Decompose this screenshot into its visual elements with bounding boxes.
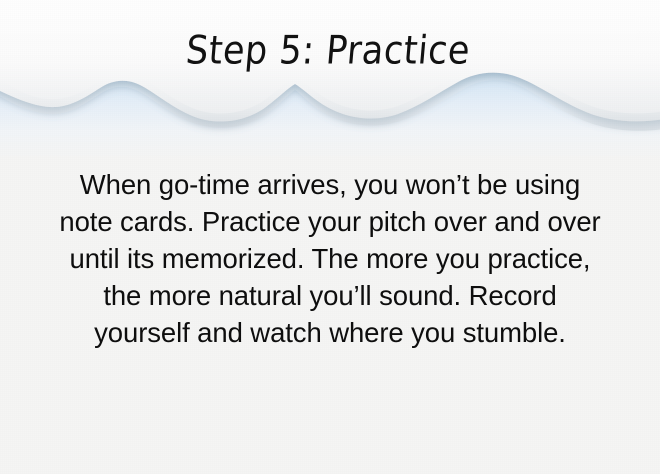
- slide-body-text: When go-time arrives, you won’t be using…: [52, 166, 608, 351]
- slide-title: Step 5: Practice: [0, 29, 660, 74]
- cloud-svg: [0, 0, 660, 160]
- cloud-band-graphic: [0, 0, 660, 160]
- slide-canvas: Step 5: Practice When go-time arrives, y…: [0, 0, 660, 474]
